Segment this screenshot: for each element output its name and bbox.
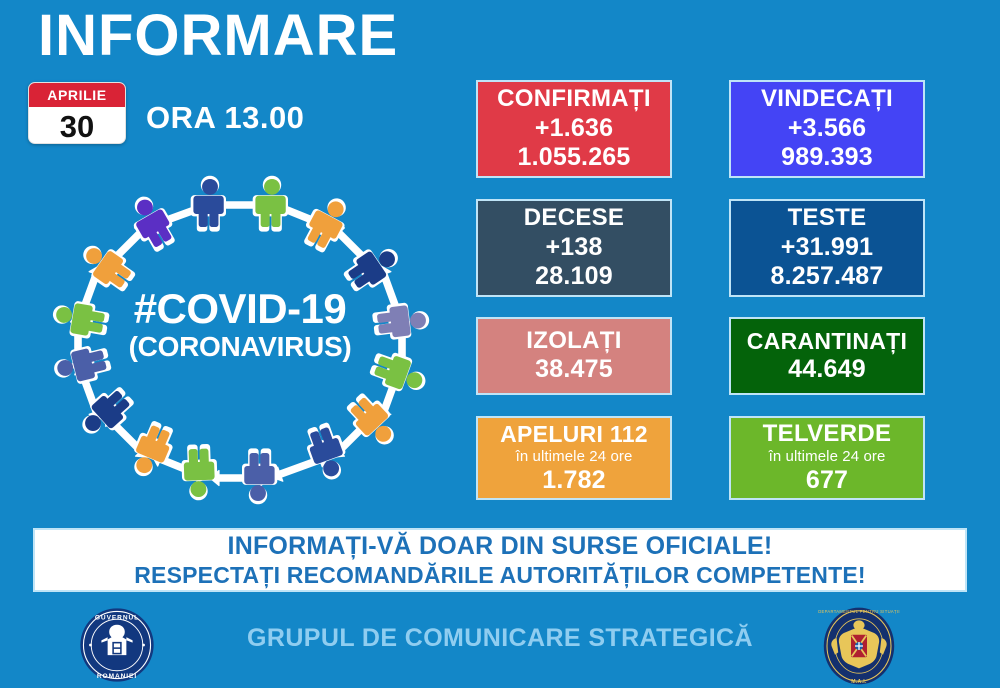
stat-card-delta: +3.566: [788, 114, 866, 144]
stat-card-confirmati: CONFIRMAȚI+1.6361.055.265: [476, 80, 672, 178]
stat-card-decese: DECESE+13828.109: [476, 199, 672, 297]
stat-card-delta: +31.991: [781, 233, 873, 263]
stat-card-total: 44.649: [788, 355, 866, 385]
stat-card-carantinati: CARANTINAȚI44.649: [729, 317, 925, 395]
banner-line-1: INFORMAȚI-VĂ DOAR DIN SURSE OFICIALE!: [228, 531, 773, 562]
stat-card-total: 8.257.487: [770, 262, 883, 292]
person-figure-group: [50, 176, 432, 505]
arrow-group: [71, 198, 410, 486]
stat-card-note: în ultimele 24 ore: [769, 448, 886, 466]
stat-card-label: TELVERDE: [763, 420, 892, 448]
calendar-day-label: 30: [29, 107, 125, 144]
stat-card-telverde: TELVERDEîn ultimele 24 ore677: [729, 416, 925, 500]
stat-card-label: CARANTINAȚI: [747, 328, 907, 355]
stat-card-izolati: IZOLAȚI38.475: [476, 317, 672, 395]
svg-text:GUVERNUL: GUVERNUL: [95, 614, 139, 621]
stat-card-label: VINDECAȚI: [761, 85, 893, 113]
svg-text:DEPARTAMENTUL PENTRU SITUAȚII: DEPARTAMENTUL PENTRU SITUAȚII: [818, 609, 900, 614]
stat-card-delta: +138: [545, 233, 602, 263]
people-circle-svg: [34, 172, 446, 508]
stat-card-delta: +1.636: [535, 114, 613, 144]
stat-card-total: 989.393: [781, 143, 873, 173]
stat-card-total: 38.475: [535, 355, 613, 385]
svg-text:ROMANIEI: ROMANIEI: [97, 673, 137, 680]
people-circle-icon: #COVID-19 (CORONAVIRUS): [34, 172, 446, 508]
calendar-icon: APRILIE 30: [28, 82, 126, 144]
informare-poster: INFORMARE APRILIE 30 ORA 13.00: [0, 0, 1000, 688]
banner-line-2: RESPECTAȚI RECOMANDĂRILE AUTORITĂȚILOR C…: [134, 561, 866, 589]
stat-card-total: 1.782: [542, 466, 606, 496]
stat-card-label: DECESE: [524, 204, 625, 232]
time-label: ORA 13.00: [146, 100, 304, 136]
stat-card-label: APELURI 112: [500, 421, 648, 448]
calendar-month-label: APRILIE: [29, 83, 125, 107]
official-sources-banner: INFORMAȚI-VĂ DOAR DIN SURSE OFICIALE! RE…: [33, 528, 967, 592]
dsu-mai-seal-icon: DEPARTAMENTUL PENTRU SITUAȚII M.A.I.: [818, 606, 900, 686]
stat-card-total: 677: [806, 466, 848, 496]
stat-card-apeluri-112: APELURI 112în ultimele 24 ore1.782: [476, 416, 672, 500]
stat-card-label: CONFIRMAȚI: [497, 85, 651, 113]
svg-text:M.A.I.: M.A.I.: [851, 679, 867, 685]
stat-card-total: 28.109: [535, 262, 613, 292]
stat-card-total: 1.055.265: [517, 143, 630, 173]
stat-card-label: TESTE: [788, 204, 867, 232]
stat-card-teste: TESTE+31.9918.257.487: [729, 199, 925, 297]
page-title: INFORMARE: [38, 6, 398, 67]
stat-card-vindecati: VINDECAȚI+3.566989.393: [729, 80, 925, 178]
stat-card-label: IZOLAȚI: [526, 327, 621, 355]
stat-card-note: în ultimele 24 ore: [516, 448, 633, 466]
